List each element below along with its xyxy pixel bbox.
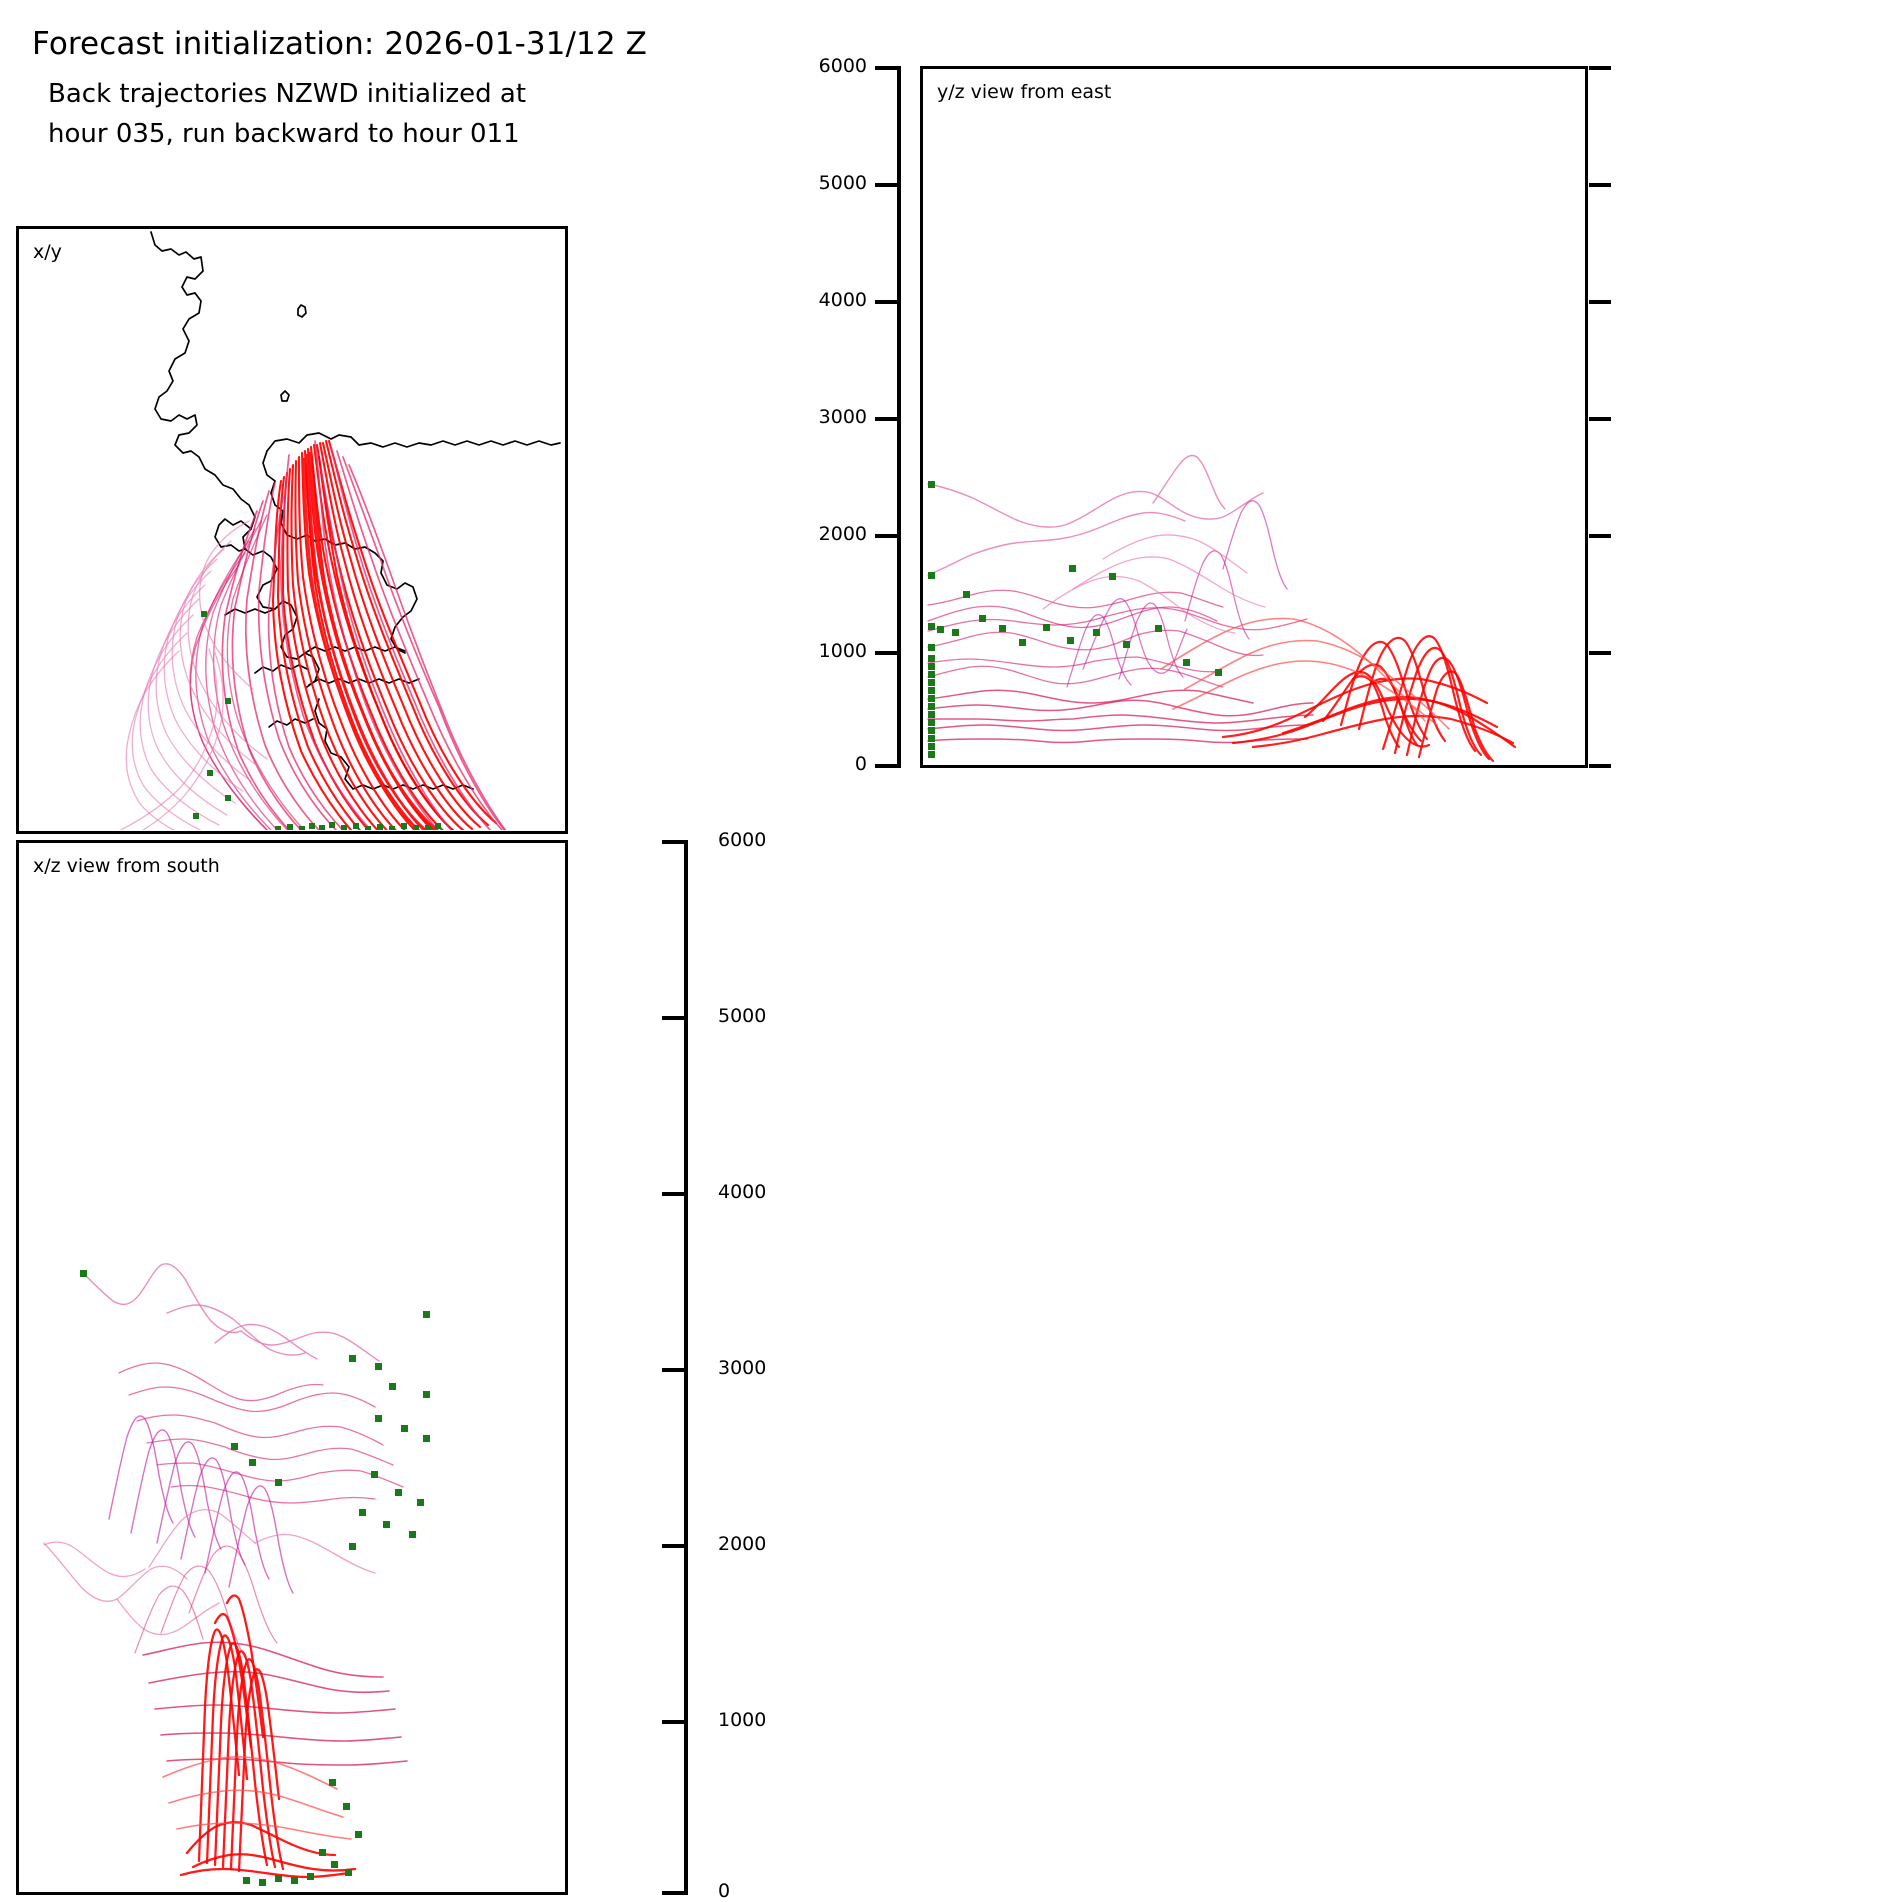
yz-tick-5000 (875, 183, 897, 187)
yz-ticklabel-5000: 5000 (819, 172, 867, 194)
yz-right-tick-1000 (1589, 651, 1611, 655)
xz-z-axis: 6000 5000 4000 3000 2000 1000 0 (684, 840, 688, 1895)
subtitle-line-2: hour 035, run backward to hour 011 (48, 119, 520, 149)
xz-axis-spine (684, 840, 688, 1895)
yz-right-tick-3000 (1589, 417, 1611, 421)
page-title: Forecast initialization: 2026-01-31/12 Z (32, 26, 647, 62)
panel-xz-cross-section[interactable]: x/z view from south (16, 840, 568, 1895)
yz-ticklabel-6000: 6000 (819, 55, 867, 77)
yz-tick-6000 (875, 66, 897, 70)
yz-ticklabel-3000: 3000 (819, 406, 867, 428)
yz-ticklabel-1000: 1000 (819, 640, 867, 662)
panel-xy-map[interactable]: x/y (16, 226, 568, 834)
xz-ticklabel-0: 0 (718, 1880, 730, 1902)
xz-tick-4000 (662, 1192, 684, 1196)
xz-ticklabel-1000: 1000 (718, 1709, 766, 1731)
xz-tick-1000 (662, 1720, 684, 1724)
trajectory-group-xy (115, 441, 509, 830)
yz-right-tick-5000 (1589, 183, 1611, 187)
xz-tick-5000 (662, 1016, 684, 1020)
xz-ticklabel-3000: 3000 (718, 1357, 766, 1379)
xz-ticklabel-5000: 5000 (718, 1005, 766, 1027)
yz-right-tick-6000 (1589, 66, 1611, 70)
yz-tick-1000 (875, 651, 897, 655)
yz-tick-4000 (875, 300, 897, 304)
yz-right-tick-4000 (1589, 300, 1611, 304)
yz-axis-spine (897, 66, 901, 768)
yz-right-tick-2000 (1589, 534, 1611, 538)
panel-xy-label: x/y (33, 241, 62, 263)
endpoint-markers-xz (80, 1270, 430, 1886)
yz-tick-0 (875, 764, 897, 768)
xz-ticklabel-6000: 6000 (718, 829, 766, 851)
xy-plot-svg (19, 229, 564, 830)
panel-xz-label: x/z view from south (33, 855, 220, 877)
xz-tick-6000 (662, 840, 684, 844)
yz-plot-svg (923, 69, 1584, 764)
yz-ticklabel-0: 0 (855, 753, 867, 775)
yz-ticklabel-2000: 2000 (819, 523, 867, 545)
panel-yz-label: y/z view from east (937, 81, 1111, 103)
yz-tick-3000 (875, 417, 897, 421)
trajectory-group-yz (928, 455, 1515, 761)
xz-tick-0 (662, 1891, 684, 1895)
yz-z-axis: 6000 5000 4000 3000 2000 1000 0 (897, 66, 901, 768)
yz-right-tick-0 (1589, 764, 1611, 768)
xz-ticklabel-2000: 2000 (718, 1533, 766, 1555)
page-subtitle: Back trajectories NZWD initialized at ho… (48, 74, 526, 154)
xz-tick-3000 (662, 1368, 684, 1372)
xz-plot-svg (19, 843, 564, 1891)
yz-tick-2000 (875, 534, 897, 538)
xz-tick-2000 (662, 1544, 684, 1548)
xz-ticklabel-4000: 4000 (718, 1181, 766, 1203)
yz-ticklabel-4000: 4000 (819, 289, 867, 311)
panel-yz-cross-section[interactable]: y/z view from east (920, 66, 1588, 768)
endpoint-markers-yz (928, 481, 1222, 758)
subtitle-line-1: Back trajectories NZWD initialized at (48, 79, 526, 109)
